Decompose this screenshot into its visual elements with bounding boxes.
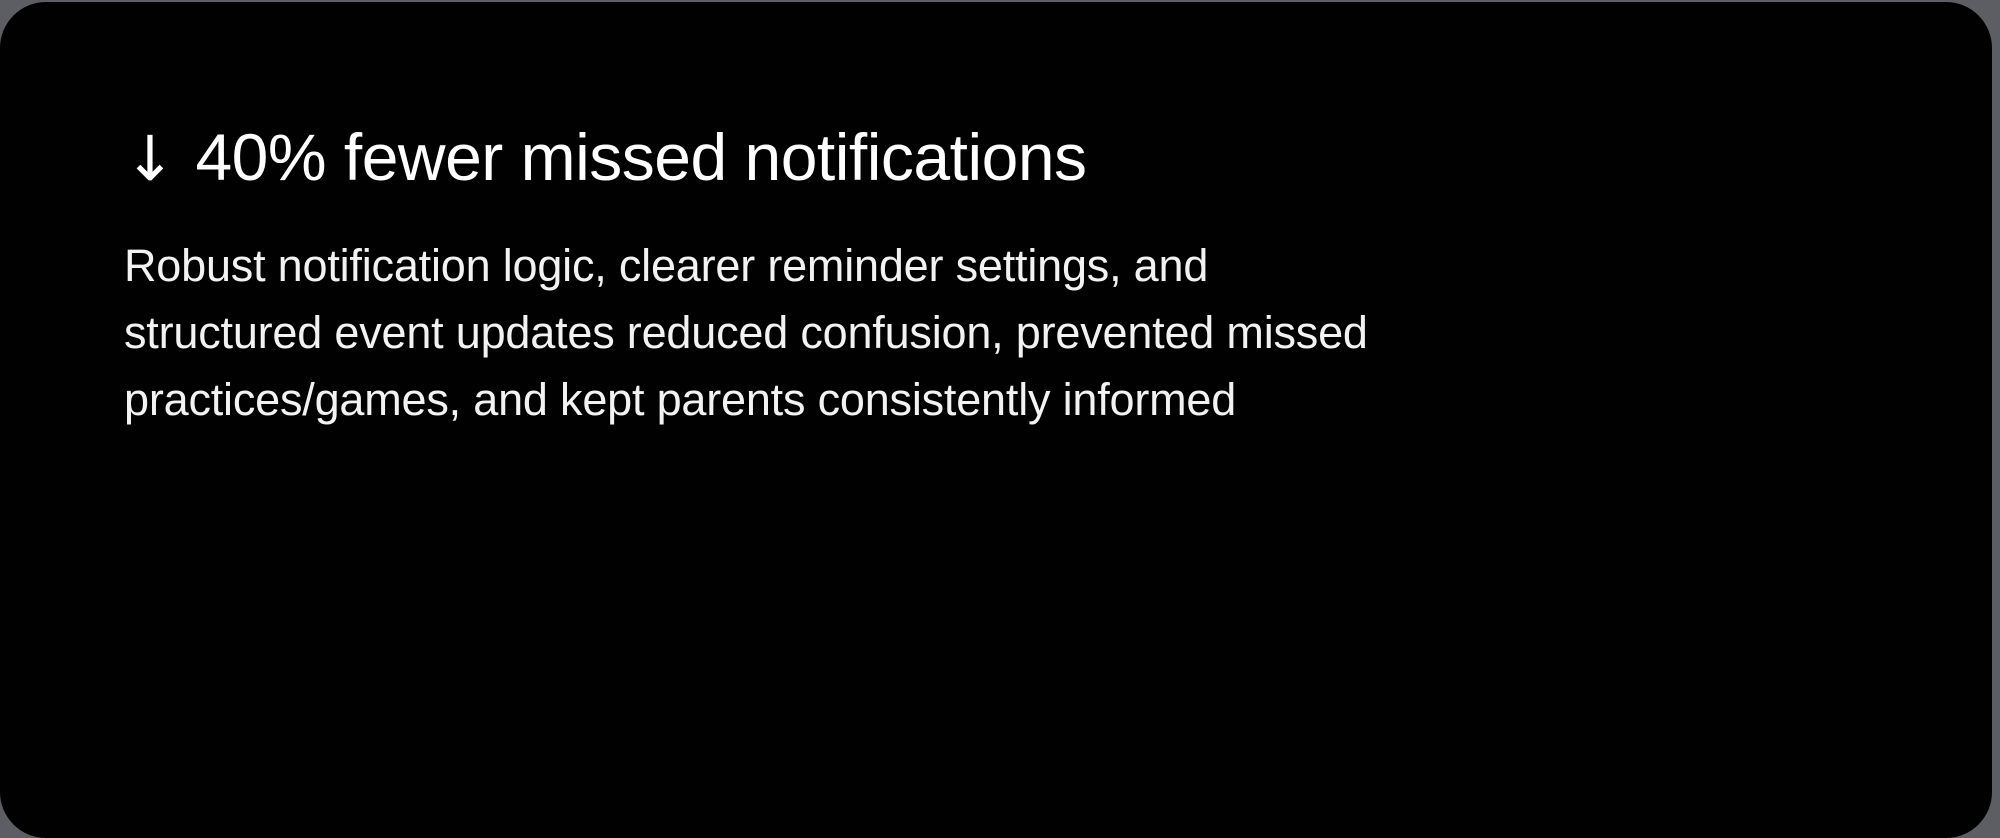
arrow-down-icon: ↓ <box>124 120 175 198</box>
stat-heading: ↓ 40% fewer missed notifications <box>124 118 1912 198</box>
stat-heading-label: 40% fewer missed notifications <box>195 118 1086 196</box>
stat-card-content: ↓ 40% fewer missed notifications Robust … <box>124 118 1912 433</box>
stat-description: Robust notification logic, clearer remin… <box>124 198 1414 433</box>
page-background: ↓ 40% fewer missed notifications Robust … <box>0 0 2000 824</box>
stat-highlight-card: ↓ 40% fewer missed notifications Robust … <box>0 2 1992 838</box>
